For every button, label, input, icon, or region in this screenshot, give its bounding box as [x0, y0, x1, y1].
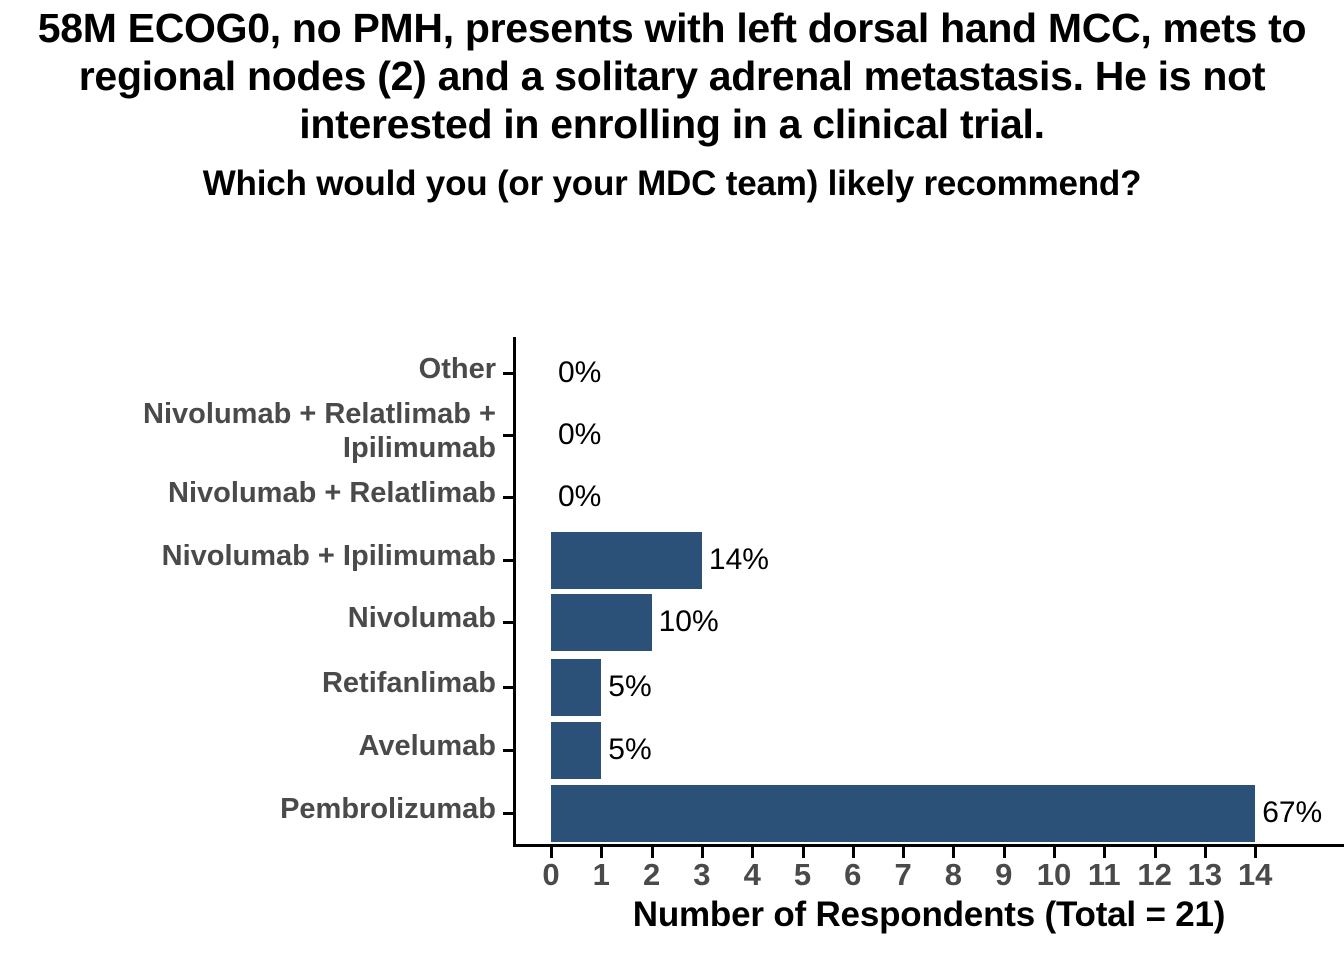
bar-value-label: 5%: [608, 735, 651, 765]
bar-value-label: 10%: [659, 607, 719, 637]
x-axis-label-10: 10: [1029, 858, 1079, 892]
y-axis-tick: [503, 749, 514, 752]
y-axis-label-5: Retifanlimab: [0, 666, 496, 700]
y-axis-label-1: Nivolumab + Relatlimab + Ipilimumab: [0, 397, 496, 465]
bar-value-label: 0%: [558, 482, 601, 512]
y-axis-tick: [503, 559, 514, 562]
x-axis-label-11: 11: [1079, 858, 1129, 892]
y-axis-tick: [503, 812, 514, 815]
x-axis-label-1: 1: [576, 858, 626, 892]
x-axis-label-5: 5: [778, 858, 828, 892]
y-axis-tick: [503, 496, 514, 499]
x-axis-label-4: 4: [727, 858, 777, 892]
bar-value-label: 5%: [608, 672, 651, 702]
x-axis-label-13: 13: [1180, 858, 1230, 892]
x-axis-label-3: 3: [677, 858, 727, 892]
bar: [551, 532, 702, 589]
x-axis-label-7: 7: [878, 858, 928, 892]
x-axis-label-12: 12: [1130, 858, 1180, 892]
y-axis-label-7: Pembrolizumab: [0, 792, 496, 826]
x-axis-title: Number of Respondents (Total = 21): [514, 895, 1344, 935]
bar-value-label: 0%: [558, 420, 601, 450]
y-axis-label-3: Nivolumab + Ipilimumab: [0, 539, 496, 573]
bar-value-label: 67%: [1262, 798, 1322, 828]
plot-area: OtherNivolumab + Relatlimab + Ipilimumab…: [0, 0, 1344, 960]
x-axis-label-9: 9: [979, 858, 1029, 892]
bar: [551, 659, 601, 716]
y-axis-tick: [503, 621, 514, 624]
bar-value-label: 14%: [709, 545, 769, 575]
bar: [551, 594, 652, 651]
chart-figure: 58M ECOG0, no PMH, presents with left do…: [0, 0, 1344, 960]
x-axis-line: [513, 844, 1344, 847]
y-axis-label-4: Nivolumab: [0, 601, 496, 635]
x-axis-label-2: 2: [627, 858, 677, 892]
bar: [551, 722, 601, 779]
y-axis-label-2: Nivolumab + Relatlimab: [0, 476, 496, 510]
y-axis-tick: [503, 372, 514, 375]
x-axis-label-6: 6: [828, 858, 878, 892]
x-axis-label-0: 0: [526, 858, 576, 892]
y-axis-line: [513, 337, 516, 846]
bar-value-label: 0%: [558, 358, 601, 388]
y-axis-tick: [503, 686, 514, 689]
y-axis-label-0: Other: [0, 352, 496, 386]
x-axis-label-8: 8: [928, 858, 978, 892]
bar: [551, 785, 1255, 842]
x-axis-label-14: 14: [1230, 858, 1280, 892]
y-axis-label-6: Avelumab: [0, 729, 496, 763]
y-axis-tick: [503, 434, 514, 437]
